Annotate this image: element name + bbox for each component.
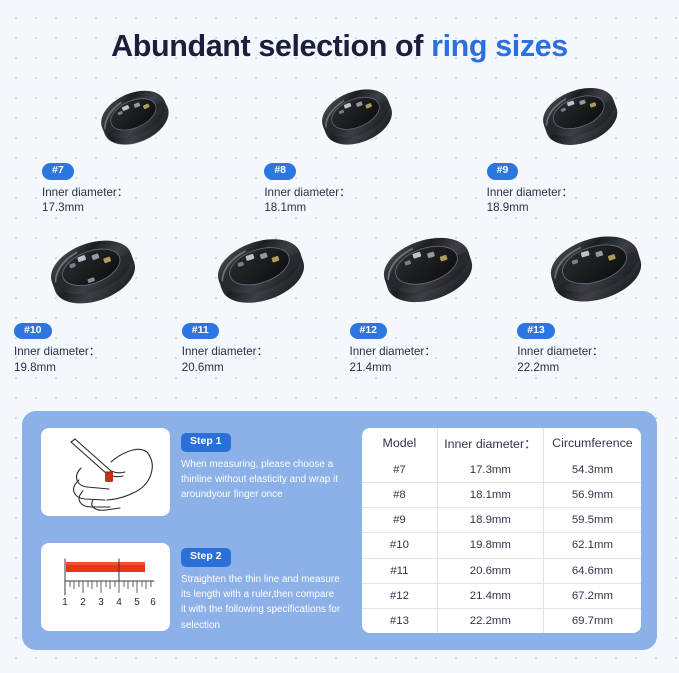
measuring-guide-panel: Step 1 When measuring, please choose a t… (22, 411, 657, 650)
cell-inner-diameter: 21.4mm (437, 583, 543, 608)
ring-badge-9: #9 (487, 163, 519, 180)
step-1-body: When measuring, please choose a thinline… (181, 457, 341, 503)
ring-image-8 (264, 76, 450, 156)
cell-circumference: 62.1mm (543, 533, 641, 558)
ring-badge-12: #12 (350, 323, 388, 340)
cell-model: #12 (362, 583, 437, 608)
table-row: #13 22.2mm 69.7mm (362, 608, 641, 633)
ruler-tick-6: 6 (150, 597, 156, 608)
table-row: #9 18.9mm 59.5mm (362, 508, 641, 533)
ring-card-8[interactable]: #8 Inner diameter： 18.1mm (228, 76, 450, 216)
ring-image-11 (182, 224, 340, 316)
cell-circumference: 67.2mm (543, 583, 641, 608)
step-2-block: 1 2 3 4 5 6 Step 2 Straighten the thin l… (41, 543, 348, 633)
cell-model: #13 (362, 608, 437, 633)
step-2-label: Step 2 (181, 548, 231, 567)
step-1-text: Step 1 When measuring, please choose a t… (181, 428, 341, 516)
cell-model: #7 (362, 458, 437, 483)
ring-card-7[interactable]: #7 Inner diameter： 17.3mm (6, 76, 228, 216)
ruler-tick-2: 2 (80, 597, 86, 608)
ring-card-13[interactable]: #13 Inner diameter： 22.2mm (507, 224, 675, 376)
ring-image-10 (14, 224, 172, 316)
ring-desc-7: Inner diameter： 17.3mm (42, 185, 128, 216)
cell-inner-diameter: 20.6mm (437, 558, 543, 583)
ruler-tick-4: 4 (116, 597, 122, 608)
ring-row-bottom: #10 Inner diameter： 19.8mm (0, 224, 679, 376)
ruler-tick-3: 3 (98, 597, 104, 608)
ring-badge-8: #8 (264, 163, 296, 180)
ring-desc-12: Inner diameter： 21.4mm (350, 344, 436, 375)
cell-model: #10 (362, 533, 437, 558)
ring-desc-13: Inner diameter： 22.2mm (517, 344, 603, 375)
steps-column: Step 1 When measuring, please choose a t… (41, 428, 348, 633)
ring-desc-8: Inner diameter： 18.1mm (264, 185, 350, 216)
step-1-label: Step 1 (181, 433, 231, 452)
ring-image-13 (517, 224, 675, 316)
table-row: #7 17.3mm 54.3mm (362, 458, 641, 483)
hand-measure-illustration (41, 428, 170, 516)
cell-circumference: 69.7mm (543, 608, 641, 633)
table-row: #12 21.4mm 67.2mm (362, 583, 641, 608)
ring-desc-9: Inner diameter： 18.9mm (487, 185, 573, 216)
ring-desc-11: Inner diameter： 20.6mm (182, 344, 268, 375)
size-table-container: Model Inner diameter： Circumference #7 1… (362, 428, 641, 633)
table-header-row: Model Inner diameter： Circumference (362, 428, 641, 458)
cell-model: #9 (362, 508, 437, 533)
step-2-text: Step 2 Straighten the thin line and meas… (181, 543, 341, 633)
ring-card-9[interactable]: #9 Inner diameter： 18.9mm (451, 76, 673, 216)
ring-card-11[interactable]: #11 Inner diameter： 20.6mm (172, 224, 340, 376)
cell-circumference: 59.5mm (543, 508, 641, 533)
ruler-measure-illustration: 1 2 3 4 5 6 (41, 543, 170, 631)
page-title-accent: ring sizes (431, 29, 568, 63)
cell-inner-diameter: 18.9mm (437, 508, 543, 533)
cell-inner-diameter: 18.1mm (437, 483, 543, 508)
ruler-tick-1: 1 (62, 597, 68, 608)
page-title-part-1: Abundant selection of (111, 29, 431, 63)
step-1-block: Step 1 When measuring, please choose a t… (41, 428, 348, 516)
table-header-circumference: Circumference (543, 428, 641, 458)
ring-desc-10: Inner diameter： 19.8mm (14, 344, 100, 375)
cell-model: #8 (362, 483, 437, 508)
ring-badge-11: #11 (182, 323, 219, 340)
table-header-inner-diameter: Inner diameter： (437, 428, 543, 458)
cell-circumference: 54.3mm (543, 458, 641, 483)
page-title: Abundant selection of ring sizes (0, 0, 679, 64)
ring-image-9 (487, 76, 673, 156)
ring-row-top: #7 Inner diameter： 17.3mm (0, 76, 679, 216)
cell-circumference: 56.9mm (543, 483, 641, 508)
cell-model: #11 (362, 558, 437, 583)
ring-image-7 (42, 76, 228, 156)
size-table: Model Inner diameter： Circumference #7 1… (362, 428, 641, 633)
cell-circumference: 64.6mm (543, 558, 641, 583)
ring-badge-7: #7 (42, 163, 74, 180)
cell-inner-diameter: 17.3mm (437, 458, 543, 483)
ring-badge-13: #13 (517, 323, 555, 340)
table-row: #11 20.6mm 64.6mm (362, 558, 641, 583)
step-2-body: Straighten the thin line and measure its… (181, 572, 341, 633)
ring-image-12 (350, 224, 508, 316)
ring-card-10[interactable]: #10 Inner diameter： 19.8mm (4, 224, 172, 376)
ruler-tick-5: 5 (134, 597, 140, 608)
table-header-model: Model (362, 428, 437, 458)
cell-inner-diameter: 19.8mm (437, 533, 543, 558)
ring-card-12[interactable]: #12 Inner diameter： 21.4mm (340, 224, 508, 376)
cell-inner-diameter: 22.2mm (437, 608, 543, 633)
table-row: #8 18.1mm 56.9mm (362, 483, 641, 508)
ring-badge-10: #10 (14, 323, 52, 340)
table-row: #10 19.8mm 62.1mm (362, 533, 641, 558)
